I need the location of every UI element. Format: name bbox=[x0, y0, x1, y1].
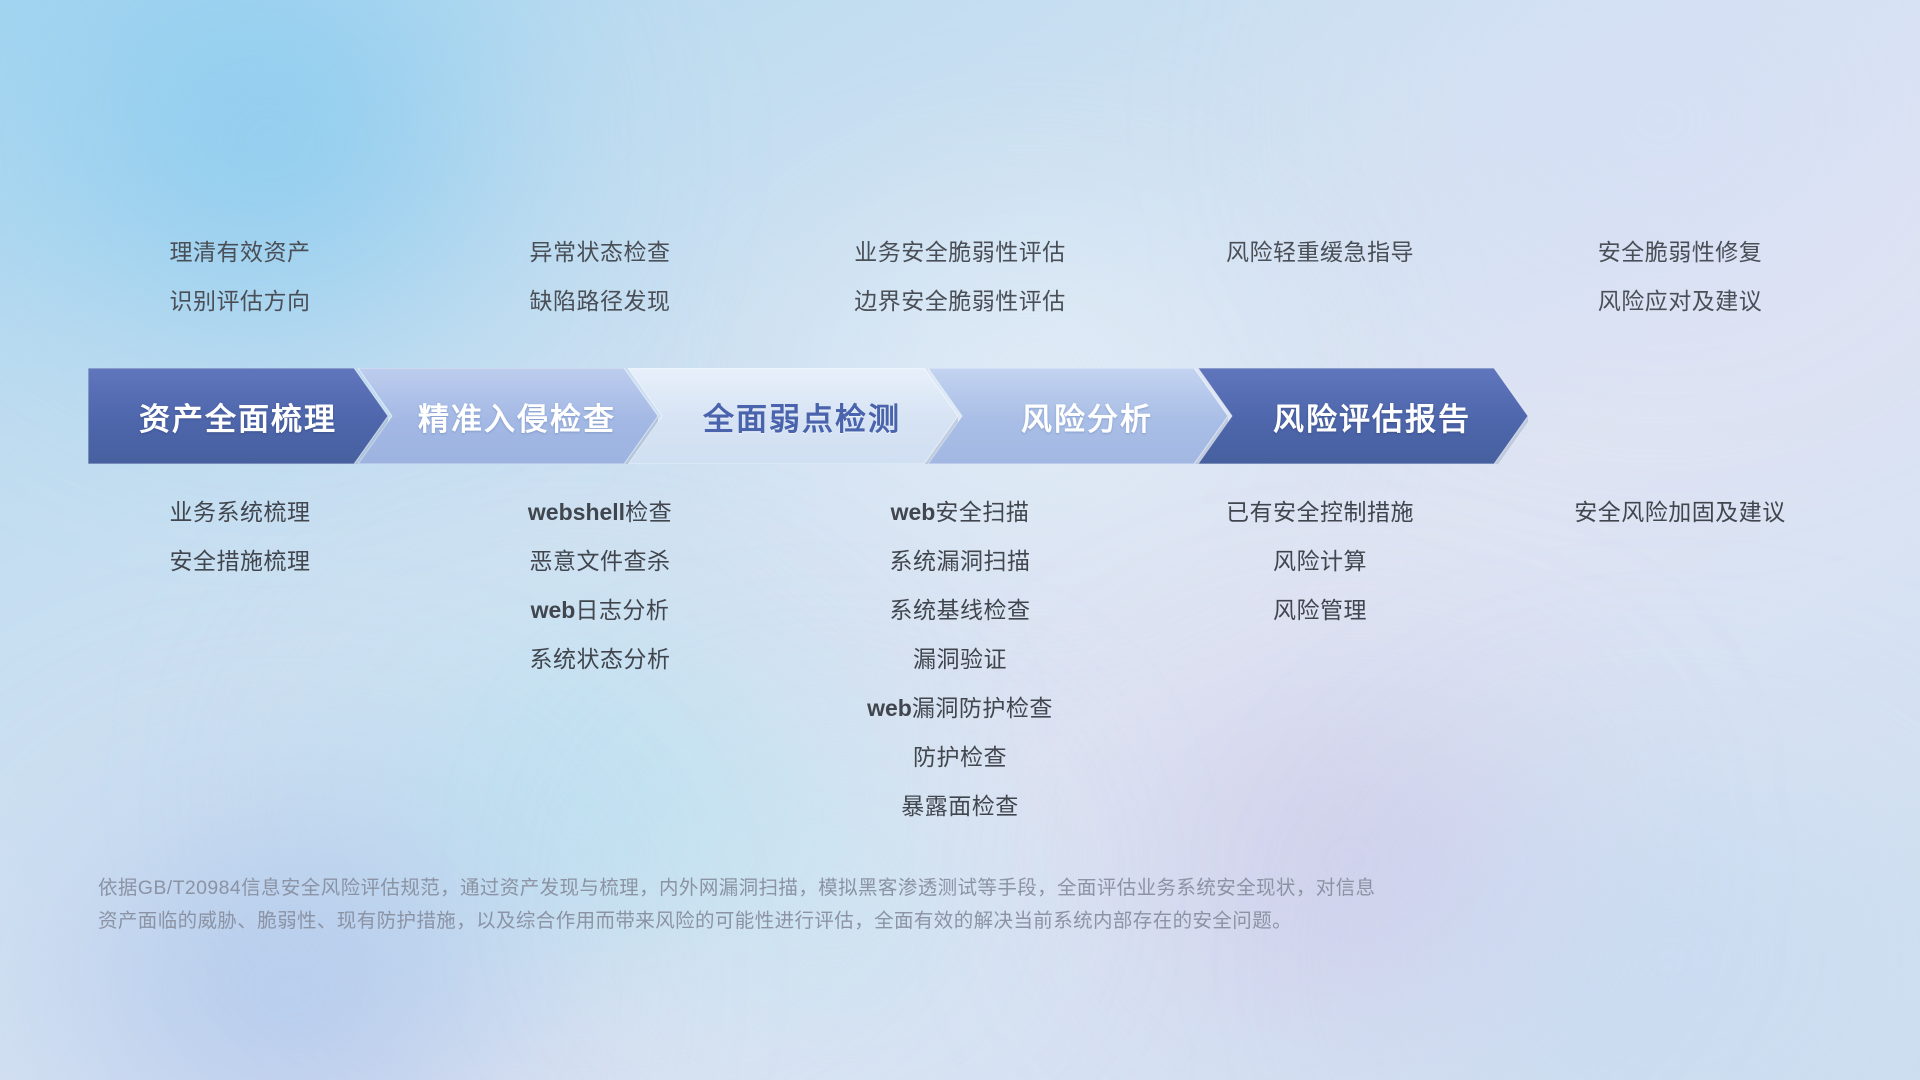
bottom-item-text: 安全扫描 bbox=[935, 499, 1029, 525]
bottom-item: 系统状态分析 bbox=[530, 635, 671, 684]
bottom-item: 业务系统梳理 bbox=[170, 488, 311, 537]
bottom-column-2: webshell检查恶意文件查杀web日志分析系统状态分析 bbox=[420, 488, 780, 684]
footer-line-2: 资产面临的威胁、脆弱性、现有防护措施，以及综合作用而带来风险的可能性进行评估，全… bbox=[98, 905, 1638, 938]
top-column-3: 业务安全脆弱性评估边界安全脆弱性评估 bbox=[780, 228, 1140, 326]
top-item: 缺陷路径发现 bbox=[530, 277, 671, 326]
bottom-item-text: 漏洞防护检查 bbox=[912, 695, 1053, 721]
bottom-item: 安全风险加固及建议 bbox=[1574, 488, 1786, 537]
bottom-column-1: 业务系统梳理安全措施梳理 bbox=[60, 488, 420, 586]
bottom-item: 防护检查 bbox=[913, 733, 1007, 782]
bottom-column-5: 安全风险加固及建议 bbox=[1500, 488, 1860, 537]
top-item: 异常状态检查 bbox=[530, 228, 671, 277]
bottom-item: webshell检查 bbox=[528, 488, 672, 537]
top-column-5: 安全脆弱性修复风险应对及建议 bbox=[1500, 228, 1860, 326]
bottom-item: web漏洞防护检查 bbox=[867, 684, 1053, 733]
chevron-stage-1[interactable]: 资产全面梳理 bbox=[88, 368, 388, 464]
top-item: 安全脆弱性修复 bbox=[1598, 228, 1763, 277]
bottom-item: 已有安全控制措施 bbox=[1226, 488, 1414, 537]
chevron-label: 风险评估报告 bbox=[1273, 394, 1471, 439]
bottom-item: 系统基线检查 bbox=[890, 586, 1031, 635]
chevron-label: 资产全面梳理 bbox=[139, 394, 337, 439]
bottom-item: web安全扫描 bbox=[891, 488, 1030, 537]
top-annotation-row: 理清有效资产识别评估方向异常状态检查缺陷路径发现业务安全脆弱性评估边界安全脆弱性… bbox=[60, 228, 1860, 326]
bottom-item: 恶意文件查杀 bbox=[530, 537, 671, 586]
process-chevron-band: 资产全面梳理精准入侵检查全面弱点检测风险分析风险评估报告 bbox=[88, 368, 1846, 464]
top-item: 业务安全脆弱性评估 bbox=[854, 228, 1066, 277]
infographic-root: 理清有效资产识别评估方向异常状态检查缺陷路径发现业务安全脆弱性评估边界安全脆弱性… bbox=[0, 0, 1920, 1080]
bottom-column-4: 已有安全控制措施风险计算风险管理 bbox=[1140, 488, 1500, 635]
bottom-item-bold: webshell bbox=[528, 499, 625, 525]
bottom-item-text: 日志分析 bbox=[575, 597, 669, 623]
chevron-label: 风险分析 bbox=[1021, 394, 1153, 439]
bottom-item: 安全措施梳理 bbox=[170, 537, 311, 586]
chevron-stage-4[interactable]: 风险分析 bbox=[928, 368, 1228, 464]
bottom-item: 系统漏洞扫描 bbox=[890, 537, 1031, 586]
chevron-stage-5[interactable]: 风险评估报告 bbox=[1198, 368, 1528, 464]
bottom-item-bold: web bbox=[891, 499, 936, 525]
footer-line-1: 依据GB/T20984信息安全风险评估规范，通过资产发现与梳理，内外网漏洞扫描，… bbox=[98, 872, 1638, 905]
chevron-label: 全面弱点检测 bbox=[703, 394, 901, 439]
top-item: 识别评估方向 bbox=[170, 277, 311, 326]
top-item: 风险轻重缓急指导 bbox=[1226, 228, 1414, 277]
top-item: 边界安全脆弱性评估 bbox=[854, 277, 1066, 326]
bottom-item: 暴露面检查 bbox=[901, 782, 1019, 831]
bottom-item-text: 检查 bbox=[625, 499, 672, 525]
bottom-item: 风险计算 bbox=[1273, 537, 1367, 586]
chevron-stage-3[interactable]: 全面弱点检测 bbox=[628, 368, 958, 464]
top-column-4: 风险轻重缓急指导 bbox=[1140, 228, 1500, 326]
top-item: 理清有效资产 bbox=[170, 228, 311, 277]
chevron-label: 精准入侵检查 bbox=[418, 394, 616, 439]
top-item: 风险应对及建议 bbox=[1598, 277, 1763, 326]
bottom-detail-row: 业务系统梳理安全措施梳理webshell检查恶意文件查杀web日志分析系统状态分… bbox=[60, 488, 1860, 831]
footer-description: 依据GB/T20984信息安全风险评估规范，通过资产发现与梳理，内外网漏洞扫描，… bbox=[98, 872, 1638, 938]
bottom-item: 漏洞验证 bbox=[913, 635, 1007, 684]
bottom-item: 风险管理 bbox=[1273, 586, 1367, 635]
bottom-column-3: web安全扫描系统漏洞扫描系统基线检查漏洞验证web漏洞防护检查防护检查暴露面检… bbox=[780, 488, 1140, 831]
bottom-item: web日志分析 bbox=[531, 586, 670, 635]
bottom-item-bold: web bbox=[867, 695, 912, 721]
bottom-item-bold: web bbox=[531, 597, 576, 623]
chevron-stage-2[interactable]: 精准入侵检查 bbox=[358, 368, 658, 464]
top-column-1: 理清有效资产识别评估方向 bbox=[60, 228, 420, 326]
top-column-2: 异常状态检查缺陷路径发现 bbox=[420, 228, 780, 326]
